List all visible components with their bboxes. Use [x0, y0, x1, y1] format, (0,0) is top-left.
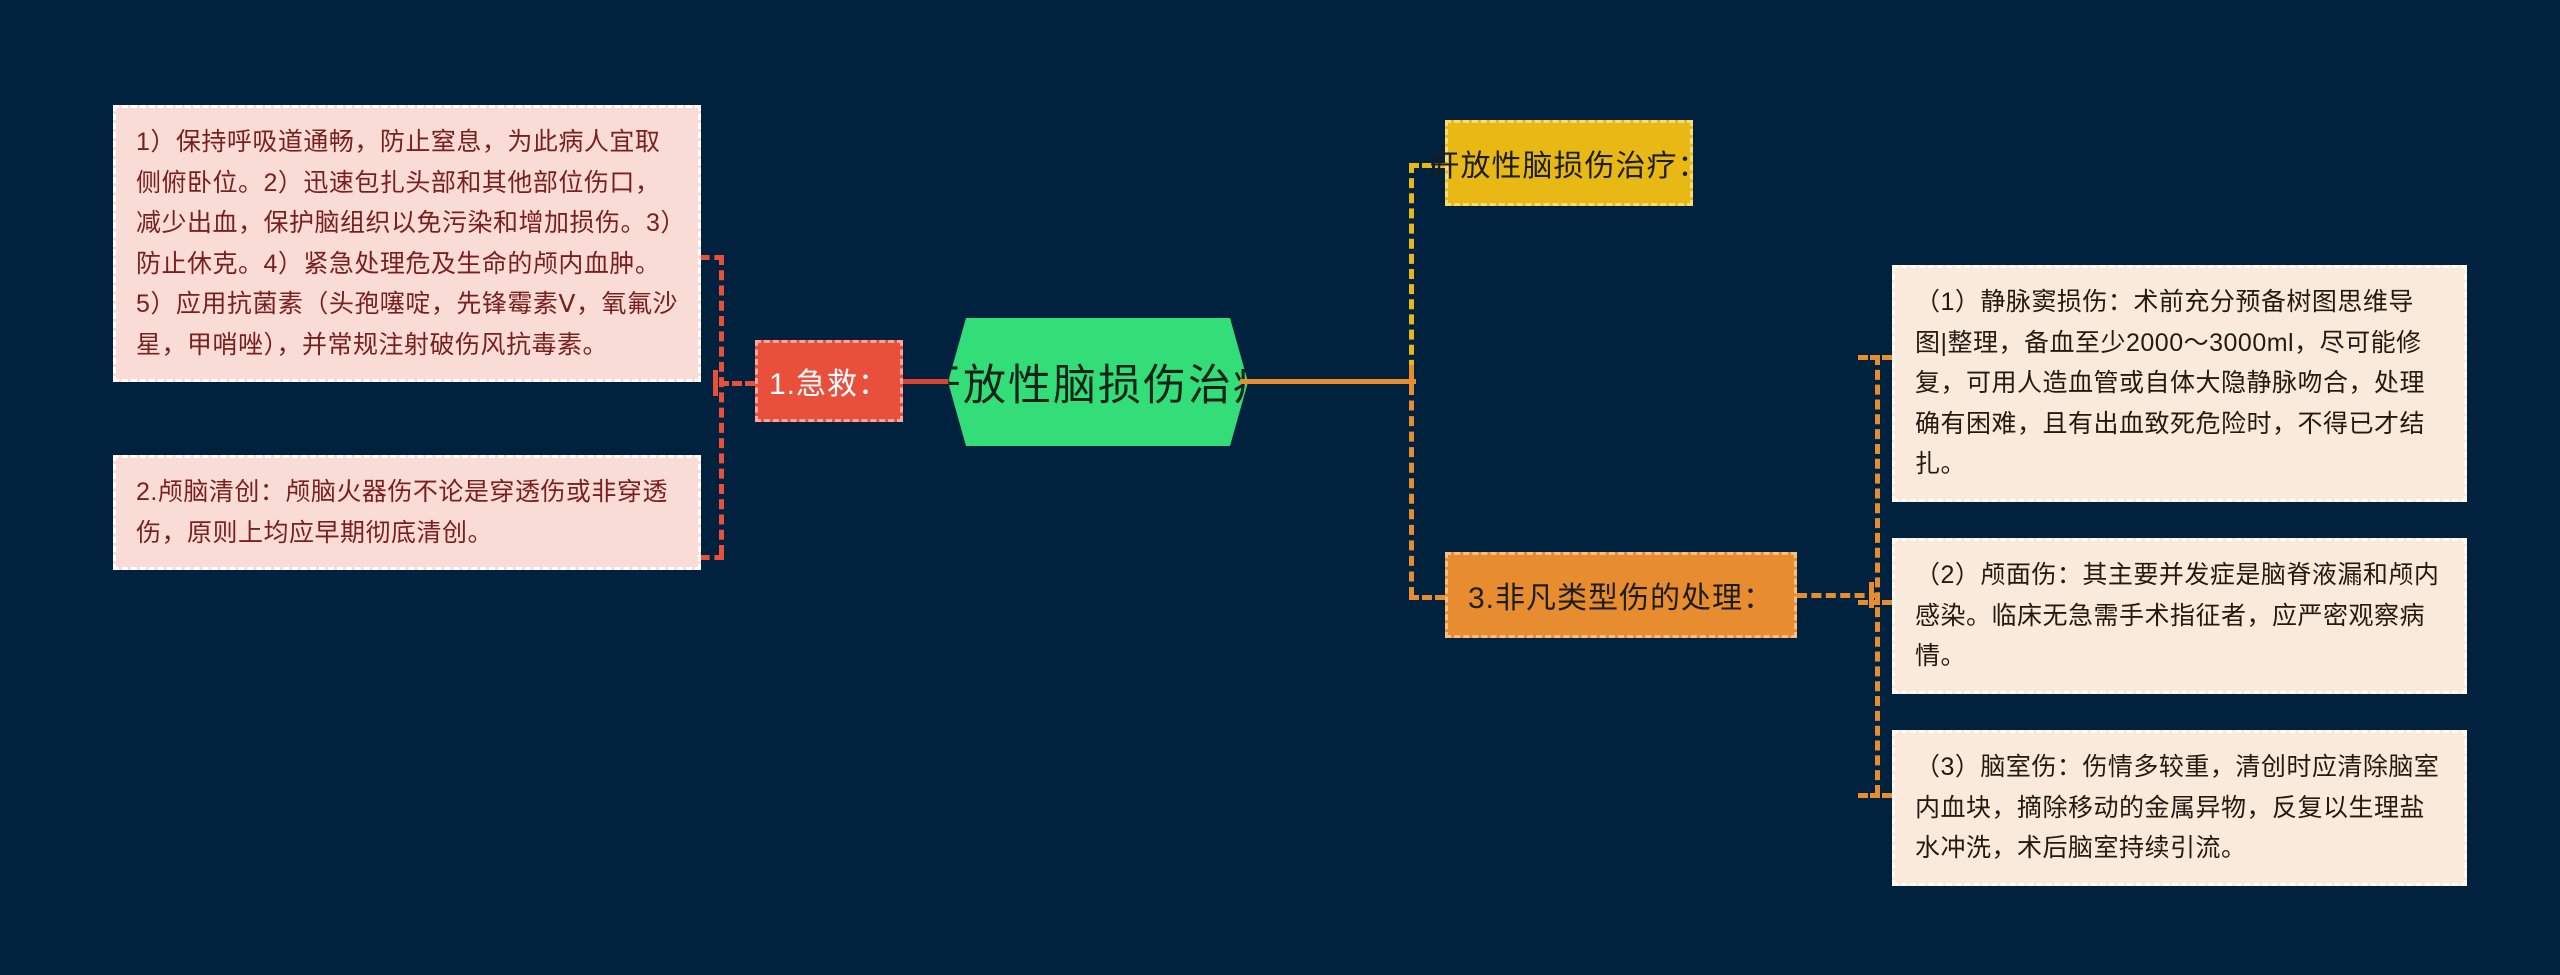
node-first-aid-steps-text: 1）保持呼吸道通畅，防止窒息，为此病人宜取侧俯卧位。2）迅速包扎头部和其他部位伤… — [136, 122, 678, 365]
node-craniocerebral-debridement-text: 2.颅脑清创：颅脑火器伤不论是穿透伤或非穿透伤，原则上均应早期彻底清创。 — [136, 472, 678, 553]
mindmap-canvas: 1）保持呼吸道通畅，防止窒息，为此病人宜取侧俯卧位。2）迅速包扎头部和其他部位伤… — [0, 0, 2560, 975]
connector-children-spine-to-craniofacial — [1858, 600, 1892, 605]
connector-right-spine-upper — [1409, 163, 1414, 385]
chip-special-injury-types[interactable]: 3.非凡类型伤的处理： — [1445, 552, 1797, 638]
node-venous-sinus-injury-text: （1）静脉窦损伤：术前充分预备树图思维导图|整理，备血至少2000～3000ml… — [1915, 282, 2444, 485]
connector-emergency-to-first-aid — [700, 255, 724, 260]
node-ventricular-injury-text: （3）脑室伤：伤情多较重，清创时应清除脑室内血块，摘除移动的金属异物，反复以生理… — [1915, 747, 2444, 869]
node-venous-sinus-injury[interactable]: （1）静脉窦损伤：术前充分预备树图思维导图|整理，备血至少2000～3000ml… — [1892, 265, 2467, 502]
center-node-label: 开放性脑损伤治疗 — [918, 351, 1278, 413]
connector-emergency-midpoint-tick — [713, 370, 718, 396]
connector-spine-to-special-chip — [1409, 595, 1445, 600]
connector-children-spine-to-venous-sinus — [1858, 355, 1892, 360]
chip-open-brain-injury-treatment[interactable]: 开放性脑损伤治疗： — [1445, 120, 1693, 206]
connector-center-to-right-spine — [1240, 379, 1416, 384]
connector-right-spine-midpoint-tick — [1409, 365, 1414, 395]
node-ventricular-injury[interactable]: （3）脑室伤：伤情多较重，清创时应清除脑室内血块，摘除移动的金属异物，反复以生理… — [1892, 730, 2467, 886]
chip-special-injury-types-label: 3.非凡类型伤的处理： — [1468, 573, 1774, 617]
connector-special-children-spine — [1875, 355, 1880, 795]
chip-emergency-label: 1.急救： — [769, 359, 889, 403]
node-craniofacial-injury-text: （2）颅面伤：其主要并发症是脑脊液漏和颅内感染。临床无急需手术指征者，应严密观察… — [1915, 555, 2444, 677]
connector-emergency-spine-to-chip — [719, 381, 755, 386]
center-node-open-brain-injury-treatment[interactable]: 开放性脑损伤治疗 — [948, 318, 1248, 446]
connector-emergency-to-debridement — [700, 555, 724, 560]
connector-children-spine-to-ventricular — [1858, 793, 1892, 798]
chip-open-brain-injury-treatment-label: 开放性脑损伤治疗： — [1430, 141, 1709, 185]
node-first-aid-steps[interactable]: 1）保持呼吸道通畅，防止窒息，为此病人宜取侧俯卧位。2）迅速包扎头部和其他部位伤… — [113, 105, 701, 382]
connector-special-chip-to-children-spine — [1797, 593, 1879, 598]
chip-emergency[interactable]: 1.急救： — [755, 340, 903, 422]
node-craniocerebral-debridement[interactable]: 2.颅脑清创：颅脑火器伤不论是穿透伤或非穿透伤，原则上均应早期彻底清创。 — [113, 455, 701, 570]
connector-emergency-spine — [719, 255, 724, 555]
connector-right-spine-lower — [1409, 385, 1414, 597]
node-craniofacial-injury[interactable]: （2）颅面伤：其主要并发症是脑脊液漏和颅内感染。临床无急需手术指征者，应严密观察… — [1892, 538, 2467, 694]
